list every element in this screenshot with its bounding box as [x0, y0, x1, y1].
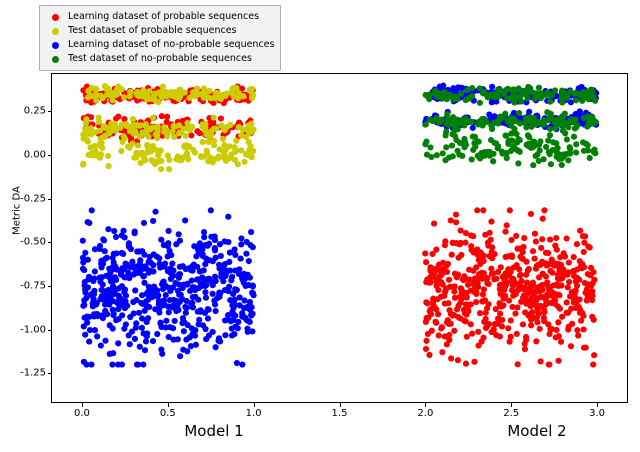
scatter-figure: Learning dataset of probable sequences T…: [0, 0, 640, 452]
x-tick-label: 3.0: [589, 408, 605, 419]
x-tick-mark: [82, 403, 83, 407]
legend-marker-blue: [52, 42, 59, 49]
x-axis-ticks: 0.00.51.01.52.02.53.0: [51, 403, 628, 423]
y-tick-label: -0.25: [2, 193, 46, 204]
x-tick-label: 0.0: [74, 408, 90, 419]
x-tick-mark: [511, 403, 512, 407]
y-tick-label: 0.00: [2, 150, 46, 161]
legend-label-learning-probable: Learning dataset of probable sequences: [68, 10, 259, 24]
x-tick-label: 1.0: [246, 408, 262, 419]
legend-label-test-probable: Test dataset of probable sequences: [68, 24, 237, 38]
y-tick-mark: [48, 330, 52, 331]
y-tick-label: -0.50: [2, 237, 46, 248]
legend-item-learning-no-probable: Learning dataset of no-probable sequence…: [45, 38, 274, 52]
x-tick-mark: [168, 403, 169, 407]
y-tick-label: -1.00: [2, 324, 46, 335]
legend-marker-yellow: [52, 28, 59, 35]
plot-area: [51, 73, 628, 403]
y-tick-mark: [48, 199, 52, 200]
legend-marker-green: [52, 56, 59, 63]
y-tick-label: 0.25: [2, 106, 46, 117]
scatter-points: [52, 74, 627, 402]
legend-item-test-no-probable: Test dataset of no-probable sequences: [45, 52, 274, 66]
x-tick-label: 2.5: [503, 408, 519, 419]
y-tick-mark: [48, 286, 52, 287]
chart-legend: Learning dataset of probable sequences T…: [39, 5, 281, 71]
x-tick-label: 1.5: [332, 408, 348, 419]
x-tick-mark: [340, 403, 341, 407]
y-axis-label: Metric DA: [12, 166, 23, 256]
legend-label-test-no-probable: Test dataset of no-probable sequences: [68, 52, 252, 66]
x-tick-mark: [597, 403, 598, 407]
y-tick-mark: [48, 111, 52, 112]
x-tick-mark: [425, 403, 426, 407]
y-axis-ticks: -1.25-1.00-0.75-0.50-0.250.000.25: [0, 73, 46, 403]
x-tick-mark: [254, 403, 255, 407]
y-tick-label: -1.25: [2, 368, 46, 379]
legend-marker-red: [52, 14, 59, 21]
y-tick-mark: [48, 155, 52, 156]
group-label-model-1: Model 1: [184, 422, 243, 440]
legend-item-learning-probable: Learning dataset of probable sequences: [45, 10, 274, 24]
y-tick-label: -0.75: [2, 281, 46, 292]
group-label-model-2: Model 2: [507, 422, 566, 440]
x-tick-label: 2.0: [417, 408, 433, 419]
x-tick-label: 0.5: [160, 408, 176, 419]
legend-label-learning-no-probable: Learning dataset of no-probable sequence…: [68, 38, 274, 52]
legend-item-test-probable: Test dataset of probable sequences: [45, 24, 274, 38]
y-tick-mark: [48, 373, 52, 374]
y-tick-mark: [48, 242, 52, 243]
